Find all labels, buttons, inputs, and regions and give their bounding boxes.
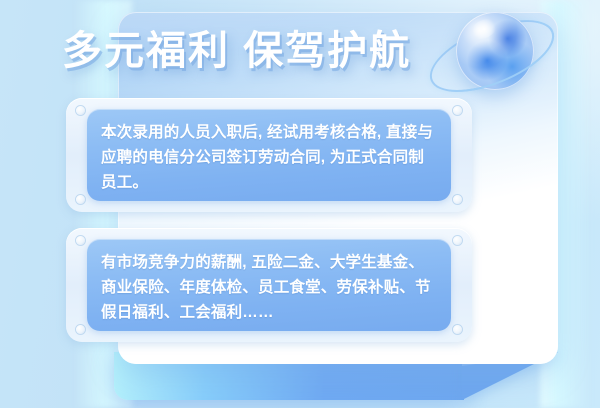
benefits-poster: 多元福利 保驾护航 本次录用的人员入职后, 经试用考核合格, 直接与应聘的电信分…: [0, 0, 600, 408]
screw-icon: [453, 195, 462, 204]
screw-icon: [453, 236, 462, 245]
info-card-employment-terms: 本次录用的人员入职后, 经试用考核合格, 直接与应聘的电信分公司签订劳动合同, …: [66, 98, 472, 212]
info-card-inner-panel: 本次录用的人员入职后, 经试用考核合格, 直接与应聘的电信分公司签订劳动合同, …: [87, 109, 451, 201]
screw-icon: [76, 195, 85, 204]
decorative-orb-group: [432, 2, 552, 98]
info-card-text: 本次录用的人员入职后, 经试用考核合格, 直接与应聘的电信分公司签订劳动合同, …: [87, 109, 451, 195]
screw-icon: [453, 325, 462, 334]
screw-icon: [76, 325, 85, 334]
info-card-text: 有市场竞争力的薪酬, 五险二金、大学生基金、商业保险、年度体检、员工食堂、劳保补…: [87, 239, 451, 325]
screw-icon: [453, 106, 462, 115]
page-title: 多元福利 保驾护航: [62, 24, 482, 78]
screw-icon: [76, 236, 85, 245]
info-card-inner-panel: 有市场竞争力的薪酬, 五险二金、大学生基金、商业保险、年度体检、员工食堂、劳保补…: [87, 239, 451, 331]
screw-icon: [76, 106, 85, 115]
info-card-benefits: 有市场竞争力的薪酬, 五险二金、大学生基金、商业保险、年度体检、员工食堂、劳保补…: [66, 228, 472, 342]
